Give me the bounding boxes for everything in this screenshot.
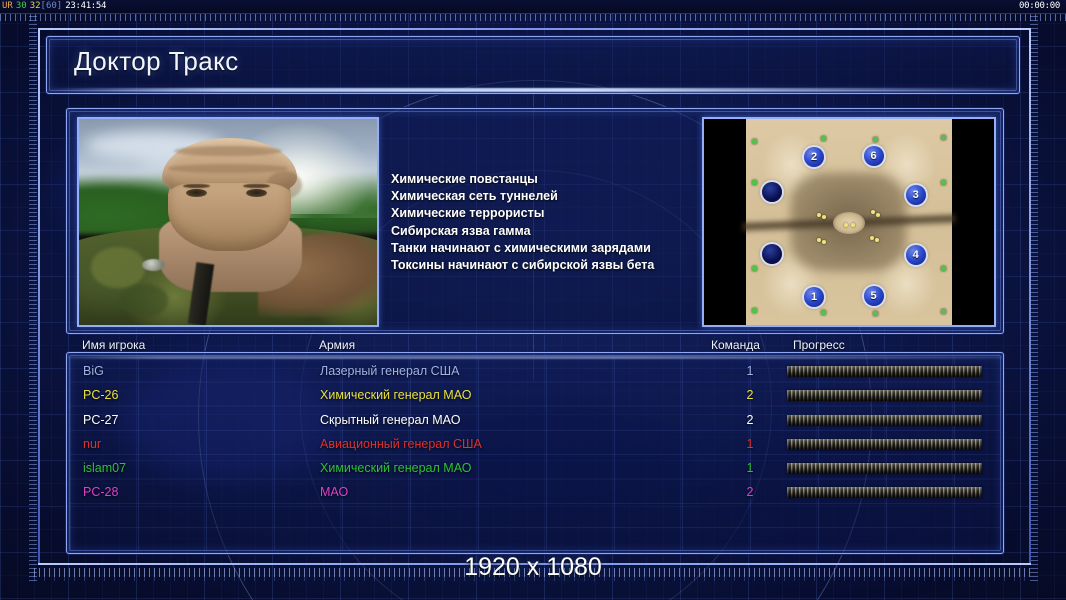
progress-bar <box>787 415 982 426</box>
status-bracket-value: 60 <box>46 0 57 13</box>
player-army: Лазерный генерал США <box>320 359 459 383</box>
player-army: МАО <box>320 480 348 504</box>
status-value-2: 32 <box>27 0 41 13</box>
progress-bar <box>787 463 982 474</box>
ruler-top <box>0 14 1066 21</box>
status-value-1: 30 <box>13 0 27 13</box>
minimap-tech-building-icon <box>941 135 946 140</box>
player-name: nur <box>83 432 101 456</box>
ruler-left <box>29 16 37 584</box>
table-row[interactable]: nurАвиационный генерал США1 <box>67 432 1003 456</box>
minimap-tech-building-icon <box>941 266 946 271</box>
status-tag: UR <box>0 0 13 13</box>
player-team: 2 <box>739 408 761 432</box>
table-row[interactable]: PC-28МАО2 <box>67 480 1003 504</box>
player-progress <box>787 487 982 498</box>
status-right-clock: 00:00:00 <box>1019 0 1060 13</box>
minimap-tech-building-icon <box>941 309 946 314</box>
minimap-tech-building-icon <box>752 308 757 313</box>
status-bar: UR3032[60]23:41:54 00:00:00 <box>0 0 1066 14</box>
status-clock: 23:41:54 <box>62 0 106 13</box>
table-row[interactable]: BiGЛазерный генерал США1 <box>67 359 1003 383</box>
minimap-oil-derrick-icon <box>822 240 826 244</box>
minimap-tech-building-icon <box>873 137 878 142</box>
player-team: 2 <box>739 480 761 504</box>
ruler-right <box>1030 16 1038 584</box>
minimap-start-position[interactable] <box>762 244 782 264</box>
minimap-start-position[interactable] <box>762 182 782 202</box>
minimap-tech-building-icon <box>821 136 826 141</box>
minimap-start-position[interactable]: 2 <box>804 147 824 167</box>
minimap-start-position[interactable]: 6 <box>864 146 884 166</box>
minimap-tech-building-icon <box>941 180 946 185</box>
progress-bar <box>787 390 982 401</box>
column-header-name: Имя игрока <box>82 338 145 352</box>
table-row[interactable]: PC-26Химический генерал МАО2 <box>67 383 1003 407</box>
title-panel: Доктор Тракс <box>46 36 1020 94</box>
minimap-terrain: 263415 <box>746 119 951 325</box>
player-list-panel: BiGЛазерный генерал США1PC-26Химический … <box>66 352 1004 554</box>
player-name: PC-26 <box>83 383 118 407</box>
table-row[interactable]: islam07Химический генерал МАО1 <box>67 456 1003 480</box>
column-header-progress: Прогресс <box>793 338 845 352</box>
minimap-oil-derrick-icon <box>844 223 848 227</box>
player-team: 1 <box>739 432 761 456</box>
progress-bar <box>787 487 982 498</box>
portrait-image <box>79 119 377 325</box>
minimap-oil-derrick-icon <box>817 213 821 217</box>
player-progress <box>787 439 982 450</box>
minimap-oil-derrick-icon <box>871 210 875 214</box>
minimap-start-position[interactable]: 1 <box>804 287 824 307</box>
resolution-label: 1920 x 1080 <box>0 553 1066 582</box>
progress-bar <box>787 366 982 377</box>
minimap-start-position[interactable]: 4 <box>906 245 926 265</box>
player-progress <box>787 390 982 401</box>
minimap-tech-building-icon <box>752 139 757 144</box>
player-progress <box>787 463 982 474</box>
player-name: PC-28 <box>83 480 118 504</box>
minimap-start-position[interactable]: 5 <box>864 286 884 306</box>
minimap-tech-building-icon <box>873 311 878 316</box>
progress-bar <box>787 439 982 450</box>
minimap-oil-derrick-icon <box>876 213 880 217</box>
player-progress <box>787 415 982 426</box>
minimap-oil-derrick-icon <box>875 238 879 242</box>
player-army: Скрытный генерал МАО <box>320 408 460 432</box>
minimap-start-position[interactable]: 3 <box>906 185 926 205</box>
game-lobby-screen: UR3032[60]23:41:54 00:00:00 Доктор Тракс <box>0 0 1066 600</box>
player-rows: BiGЛазерный генерал США1PC-26Химический … <box>67 359 1003 505</box>
player-progress <box>787 366 982 377</box>
minimap[interactable]: 263415 <box>702 117 996 327</box>
minimap-tech-building-icon <box>821 310 826 315</box>
column-header-team: Команда <box>711 338 760 352</box>
title-underglow <box>48 88 1016 92</box>
player-team: 2 <box>739 383 761 407</box>
player-army: Химический генерал МАО <box>320 456 471 480</box>
map-info-panel: Химические повстанцы Химическая сеть тун… <box>66 108 1004 334</box>
player-team: 1 <box>739 359 761 383</box>
player-name: BiG <box>83 359 104 383</box>
player-army: Авиационный генерал США <box>320 432 482 456</box>
player-army: Химический генерал МАО <box>320 383 471 407</box>
column-header-army: Армия <box>319 338 355 352</box>
player-team: 1 <box>739 456 761 480</box>
table-row[interactable]: PC-27Скрытный генерал МАО2 <box>67 408 1003 432</box>
player-name: PC-27 <box>83 408 118 432</box>
faction-portrait <box>77 117 379 327</box>
page-title: Доктор Тракс <box>74 46 239 77</box>
minimap-tech-building-icon <box>752 180 757 185</box>
minimap-tech-building-icon <box>752 266 757 271</box>
minimap-oil-derrick-icon <box>817 238 821 242</box>
player-name: islam07 <box>83 456 126 480</box>
